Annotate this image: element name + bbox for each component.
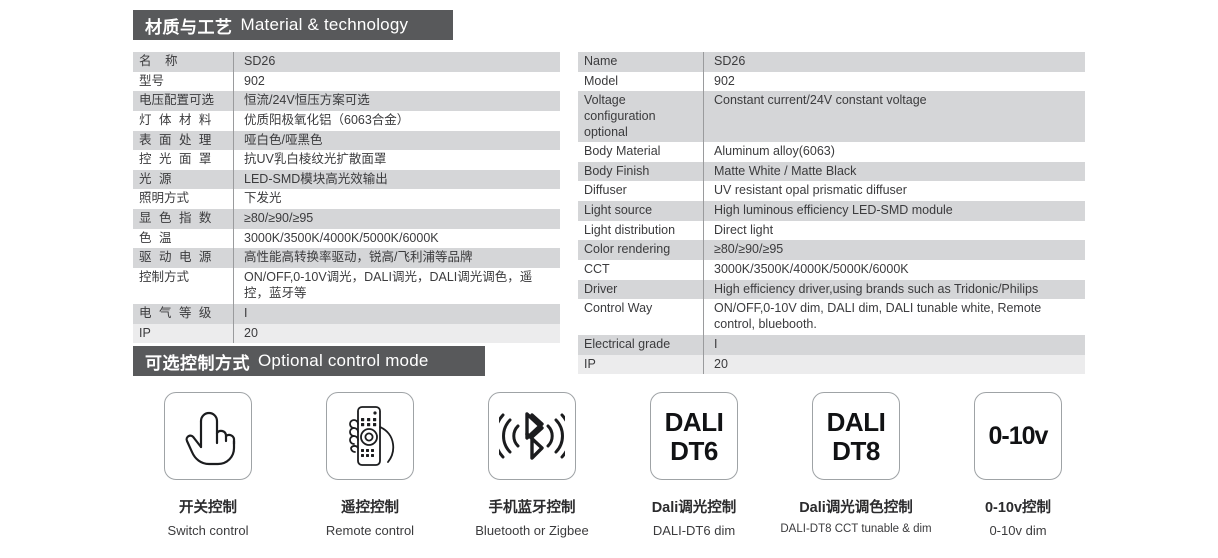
spec-key: 控制方式: [133, 268, 233, 288]
spec-key: Body Finish: [578, 162, 703, 182]
table-row: 显 色 指 数 ≥80/≥90/≥95: [133, 209, 560, 229]
datasheet-page: 材质与工艺 Material & technology 名 称 SD26 型号 …: [0, 0, 1218, 558]
dali-dt6-icon: DALI DT6: [665, 409, 724, 464]
control-mode-label-en: DALI-DT8 CCT tunable & dim: [780, 523, 931, 535]
section-header-control-cn: 可选控制方式: [145, 349, 250, 374]
control-mode-bluetooth[interactable]: 手机蓝牙控制 Bluetooth or Zigbee: [457, 392, 607, 538]
table-row: Light source High luminous efficiency LE…: [578, 201, 1085, 221]
table-row: 控 光 面 罩 抗UV乳白棱纹光扩散面罩: [133, 150, 560, 170]
dali-dt8-icon-line2: DT8: [827, 438, 886, 464]
spec-key: Body Material: [578, 142, 703, 162]
table-row: 型号 902: [133, 72, 560, 92]
table-row: Model 902: [578, 72, 1085, 92]
spec-value: 20: [233, 324, 560, 344]
section-header-material-en: Material & technology: [241, 15, 409, 35]
spec-key: 控 光 面 罩: [133, 150, 233, 170]
control-mode-label-cn: 开关控制: [179, 496, 237, 517]
table-row: 电压配置可选 恒流/24V恒压方案可选: [133, 91, 560, 111]
table-row: CCT 3000K/3500K/4000K/5000K/6000K: [578, 260, 1085, 280]
spec-table-chinese: 名 称 SD26 型号 902 电压配置可选 恒流/24V恒压方案可选 灯 体 …: [133, 52, 560, 343]
spec-key: Diffuser: [578, 181, 703, 201]
spec-value: 哑白色/哑黑色: [233, 131, 560, 151]
control-mode-label-en: Switch control: [168, 523, 249, 538]
spec-value: Matte White / Matte Black: [703, 162, 1085, 182]
spec-key: CCT: [578, 260, 703, 280]
spec-value: I: [703, 335, 1085, 355]
table-row: 色 温 3000K/3500K/4000K/5000K/6000K: [133, 229, 560, 249]
spec-value: 下发光: [233, 189, 560, 209]
table-row: Name SD26: [578, 52, 1085, 72]
spec-key: Light source: [578, 201, 703, 221]
control-mode-dali-dt8[interactable]: DALI DT8 Dali调光调色控制 DALI-DT8 CCT tunable…: [781, 392, 931, 538]
table-row: Color rendering ≥80/≥90/≥95: [578, 240, 1085, 260]
spec-value: ON/OFF,0-10V dim, DALI dim, DALI tunable…: [703, 299, 1085, 335]
dali-dt6-icon-line2: DT6: [665, 438, 724, 464]
spec-value: 902: [233, 72, 560, 92]
table-row: 光 源 LED-SMD模块高光效输出: [133, 170, 560, 190]
table-row: Body Finish Matte White / Matte Black: [578, 162, 1085, 182]
table-row: 灯 体 材 料 优质阳极氧化铝（6063合金）: [133, 111, 560, 131]
control-mode-0-10v[interactable]: 0-10v 0-10v控制 0-10v dim: [943, 392, 1093, 538]
control-mode-icon-box: DALI DT6: [650, 392, 738, 480]
spec-value: ≥80/≥90/≥95: [233, 209, 560, 229]
remote-hand-icon: [341, 404, 399, 468]
spec-value: 优质阳极氧化铝（6063合金）: [233, 111, 560, 131]
table-row: 名 称 SD26: [133, 52, 560, 72]
spec-value: I: [233, 304, 560, 324]
spec-key: IP: [578, 355, 703, 375]
spec-value: Constant current/24V constant voltage: [703, 91, 1085, 142]
spec-key: Model: [578, 72, 703, 92]
dali-dt8-icon-line1: DALI: [827, 409, 886, 435]
spec-key: 灯 体 材 料: [133, 111, 233, 131]
spec-key: 光 源: [133, 170, 233, 190]
spec-value: 3000K/3500K/4000K/5000K/6000K: [233, 229, 560, 249]
table-row: Diffuser UV resistant opal prismatic dif…: [578, 181, 1085, 201]
control-mode-label-en: Bluetooth or Zigbee: [475, 523, 588, 538]
control-mode-label-cn: 遥控控制: [341, 496, 399, 517]
table-row: Light distribution Direct light: [578, 221, 1085, 241]
table-row: IP 20: [578, 355, 1085, 375]
spec-key: 显 色 指 数: [133, 209, 233, 229]
control-mode-label-cn: Dali调光调色控制: [799, 496, 913, 517]
spec-value: Aluminum alloy(6063): [703, 142, 1085, 162]
control-mode-switch[interactable]: 开关控制 Switch control: [133, 392, 283, 538]
spec-key: Driver: [578, 280, 703, 300]
spec-key: 电 气 等 级: [133, 304, 233, 324]
dali-dt6-icon-line1: DALI: [665, 409, 724, 435]
spec-key: 色 温: [133, 229, 233, 249]
control-mode-dali-dt6[interactable]: DALI DT6 Dali调光控制 DALI-DT6 dim: [619, 392, 769, 538]
control-mode-label-en: DALI-DT6 dim: [653, 523, 735, 538]
control-mode-label-cn: 手机蓝牙控制: [489, 496, 576, 517]
section-header-material: 材质与工艺 Material & technology: [133, 10, 453, 40]
spec-value: 恒流/24V恒压方案可选: [233, 91, 560, 111]
spec-value: ≥80/≥90/≥95: [703, 240, 1085, 260]
section-header-material-cn: 材质与工艺: [145, 13, 233, 38]
spec-key: Name: [578, 52, 703, 72]
table-row: 控制方式 ON/OFF,0-10V调光，DALI调光，DALI调光调色，遥控，蓝…: [133, 268, 560, 304]
section-header-control-en: Optional control mode: [258, 351, 429, 371]
table-row: 电 气 等 级 I: [133, 304, 560, 324]
spec-key: 型号: [133, 72, 233, 92]
spec-key: IP: [133, 324, 233, 344]
spec-key: Color rendering: [578, 240, 703, 260]
control-mode-icon-box: 0-10v: [974, 392, 1062, 480]
dali-dt8-icon: DALI DT8: [827, 409, 886, 464]
spec-value: SD26: [233, 52, 560, 72]
spec-value: UV resistant opal prismatic diffuser: [703, 181, 1085, 201]
spec-value: Direct light: [703, 221, 1085, 241]
control-mode-icon-box: [326, 392, 414, 480]
spec-key: Control Way: [578, 299, 703, 319]
table-row: Voltage configuration optional Constant …: [578, 91, 1085, 142]
table-row: Driver High efficiency driver,using bran…: [578, 280, 1085, 300]
control-mode-icon-box: [488, 392, 576, 480]
spec-key: 表 面 处 理: [133, 131, 233, 151]
section-header-control: 可选控制方式 Optional control mode: [133, 346, 485, 376]
spec-key: 驱 动 电 源: [133, 248, 233, 268]
table-row: IP 20: [133, 324, 560, 344]
table-row: Electrical grade I: [578, 335, 1085, 355]
spec-key: Electrical grade: [578, 335, 703, 355]
bluetooth-icon: [499, 410, 565, 462]
table-row: 照明方式 下发光: [133, 189, 560, 209]
control-mode-icon-box: DALI DT8: [812, 392, 900, 480]
control-mode-label-en: 0-10v dim: [989, 523, 1046, 538]
spec-value: ON/OFF,0-10V调光，DALI调光，DALI调光调色，遥控，蓝牙等: [233, 268, 560, 304]
spec-table-english: Name SD26 Model 902 Voltage configuratio…: [578, 52, 1085, 374]
spec-value: High efficiency driver,using brands such…: [703, 280, 1085, 300]
control-mode-icon-box: [164, 392, 252, 480]
control-mode-list: 开关控制 Switch control: [133, 392, 1093, 538]
spec-value: 高性能高转换率驱动，锐高/飞利浦等品牌: [233, 248, 560, 268]
table-row: 驱 动 电 源 高性能高转换率驱动，锐高/飞利浦等品牌: [133, 248, 560, 268]
table-row: 表 面 处 理 哑白色/哑黑色: [133, 131, 560, 151]
table-row: Body Material Aluminum alloy(6063): [578, 142, 1085, 162]
touch-finger-icon: [179, 405, 237, 467]
control-mode-label-cn: Dali调光控制: [652, 496, 737, 517]
control-mode-remote[interactable]: 遥控控制 Remote control: [295, 392, 445, 538]
spec-value: High luminous efficiency LED-SMD module: [703, 201, 1085, 221]
spec-value: SD26: [703, 52, 1085, 72]
spec-value: LED-SMD模块高光效输出: [233, 170, 560, 190]
spec-value: 3000K/3500K/4000K/5000K/6000K: [703, 260, 1085, 280]
spec-value: 抗UV乳白棱纹光扩散面罩: [233, 150, 560, 170]
control-mode-label-en: Remote control: [326, 523, 414, 538]
spec-value: 902: [703, 72, 1085, 92]
table-row: Control Way ON/OFF,0-10V dim, DALI dim, …: [578, 299, 1085, 335]
zero-to-ten-v-icon: 0-10v: [989, 424, 1048, 449]
control-mode-label-cn: 0-10v控制: [985, 496, 1051, 517]
spec-key: 电压配置可选: [133, 91, 233, 111]
spec-key: Voltage configuration optional: [578, 91, 703, 142]
spec-value: 20: [703, 355, 1085, 375]
spec-key: Light distribution: [578, 221, 703, 241]
spec-key: 照明方式: [133, 189, 233, 209]
spec-key: 名 称: [133, 52, 233, 72]
